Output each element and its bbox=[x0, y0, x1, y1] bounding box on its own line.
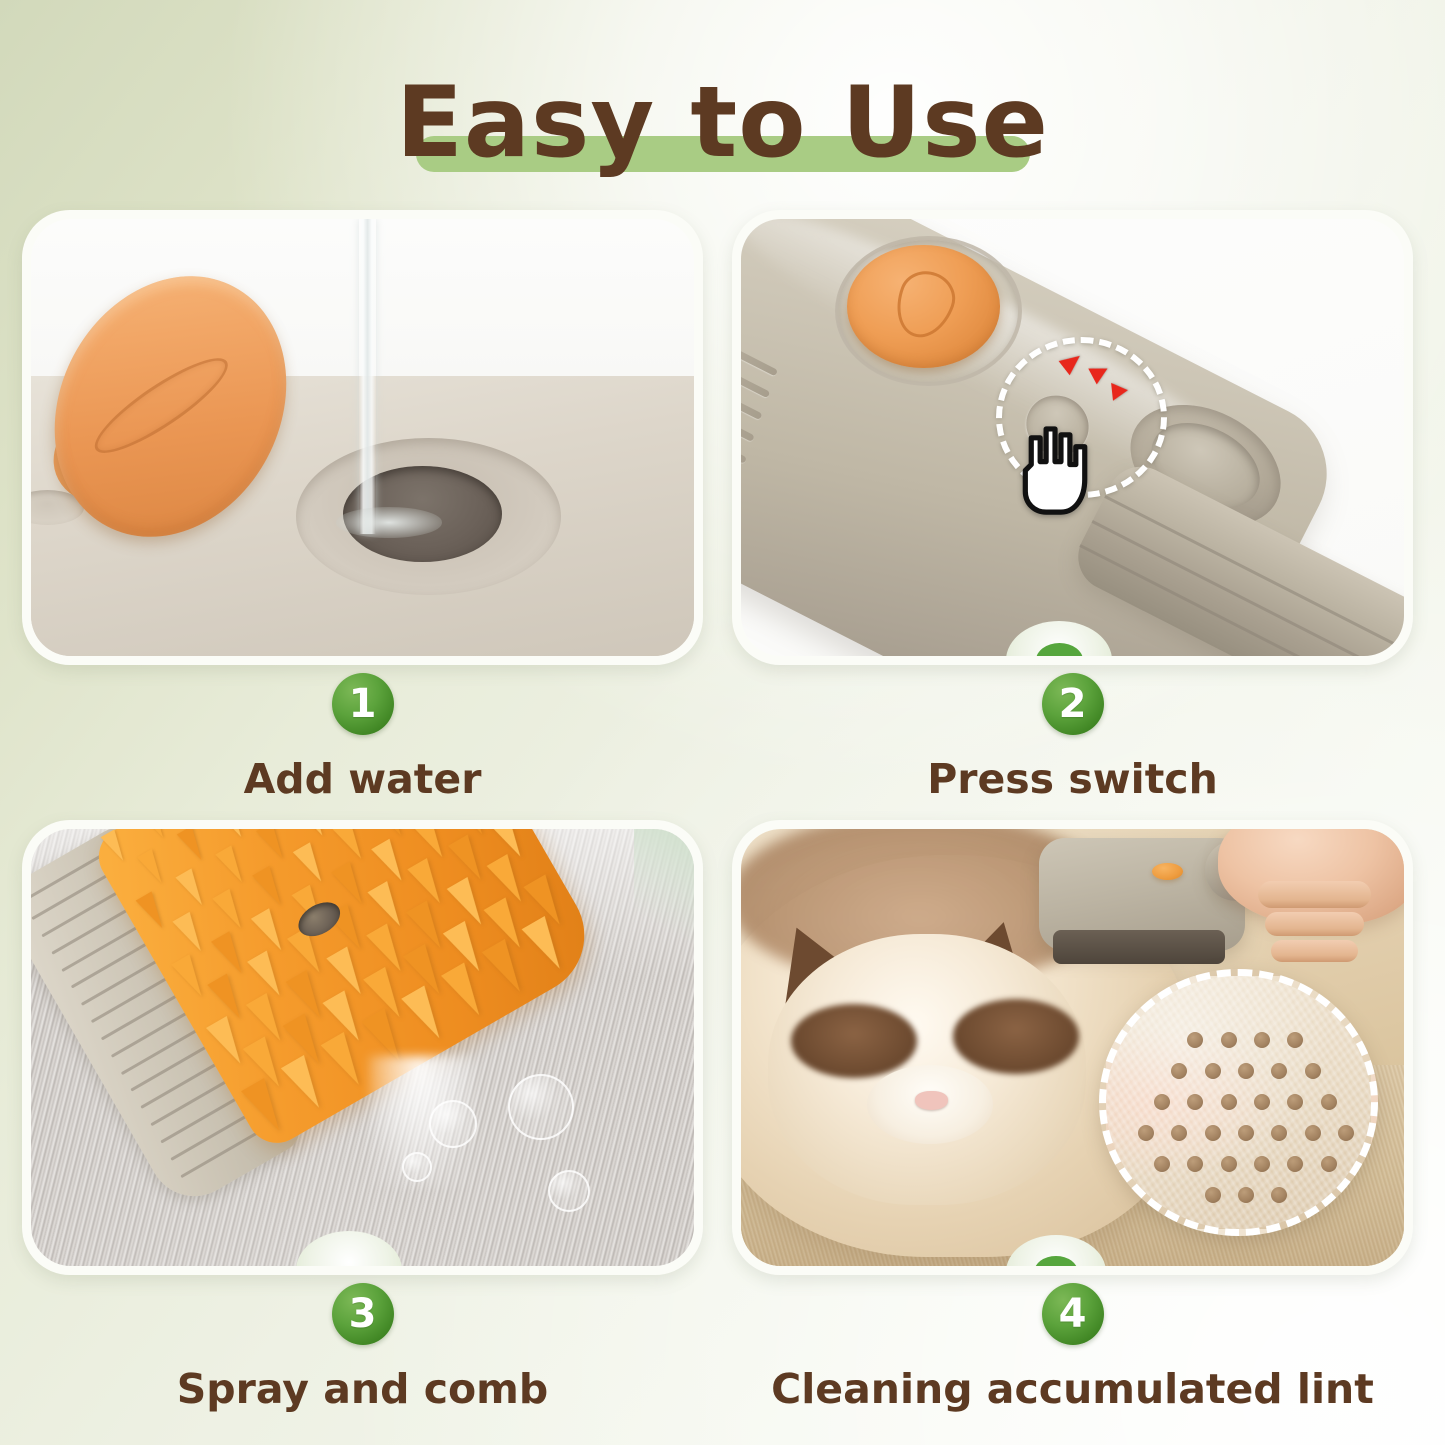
orange-bristle bbox=[402, 986, 452, 1045]
lint-hole bbox=[1187, 1156, 1203, 1172]
step-card-4: 4 Cleaning accumulated lint bbox=[732, 820, 1413, 1420]
step-2-number: 2 bbox=[1059, 684, 1087, 724]
step-4-photo bbox=[741, 829, 1404, 1266]
lint-hole bbox=[1271, 1125, 1287, 1141]
step-3-label: Spray and comb bbox=[22, 1365, 703, 1413]
brush-bristle-pad bbox=[1053, 930, 1225, 965]
page-title-block: Easy to Use bbox=[0, 58, 1445, 188]
orange-bristle bbox=[412, 829, 451, 862]
cat-nose bbox=[915, 1091, 948, 1109]
orange-bristle bbox=[247, 950, 289, 1001]
orange-bristle bbox=[366, 923, 411, 977]
orange-bristle bbox=[292, 842, 329, 886]
orange-bristle bbox=[448, 835, 490, 886]
orange-bristle bbox=[207, 974, 249, 1025]
hand-cursor-icon bbox=[1010, 420, 1106, 524]
orange-bristle bbox=[442, 962, 492, 1021]
lint-hole bbox=[1287, 1156, 1303, 1172]
lint-hole bbox=[1254, 1094, 1270, 1110]
lint-hole bbox=[1238, 1125, 1254, 1141]
finger-2 bbox=[1265, 912, 1364, 936]
orange-bristle bbox=[373, 829, 410, 840]
step-1-badge: 1 bbox=[332, 673, 394, 735]
lint-hole bbox=[1187, 1094, 1203, 1110]
orange-bristle bbox=[137, 849, 169, 887]
lint-hole bbox=[1338, 1125, 1354, 1141]
lint-hole bbox=[1271, 1187, 1287, 1203]
step-4-badge: 4 bbox=[1042, 1283, 1104, 1345]
water-splash bbox=[336, 507, 442, 538]
orange-bristle bbox=[211, 930, 250, 977]
step-2-badge: 2 bbox=[1042, 673, 1104, 735]
lint-hole bbox=[1171, 1125, 1187, 1141]
orange-bristle bbox=[135, 891, 169, 932]
lint-hole bbox=[1221, 1032, 1237, 1048]
steam-spray-icon bbox=[369, 1056, 475, 1187]
orange-bristle bbox=[447, 877, 492, 931]
steps-grid: 1 Add water bbox=[0, 196, 1445, 1445]
orange-bristle bbox=[326, 946, 371, 1000]
orange-bristle bbox=[408, 858, 450, 909]
step-1-photo-frame bbox=[22, 210, 703, 665]
lint-hole bbox=[1187, 1032, 1203, 1048]
lint-hole bbox=[1154, 1156, 1170, 1172]
lint-hole bbox=[1287, 1094, 1303, 1110]
step-1-label: Add water bbox=[22, 755, 703, 803]
finger-3 bbox=[1271, 940, 1357, 962]
lint-hole bbox=[1287, 1032, 1303, 1048]
orange-bristle bbox=[286, 969, 331, 1023]
status-indicator-light bbox=[296, 1231, 402, 1266]
orange-bristle bbox=[321, 1032, 371, 1091]
orange-bristle bbox=[212, 888, 249, 932]
orange-bristle bbox=[252, 865, 289, 909]
lint-hole bbox=[1238, 1063, 1254, 1079]
orange-bristle bbox=[296, 829, 330, 840]
orange-bristle bbox=[452, 829, 491, 839]
orange-bristle bbox=[406, 900, 451, 954]
orange-bristle bbox=[172, 911, 209, 955]
dashed-circle-inset bbox=[1099, 969, 1378, 1236]
step-2-label: Press switch bbox=[732, 755, 1413, 803]
lint-hole bbox=[1221, 1156, 1237, 1172]
red-arrow-icon-3 bbox=[1111, 381, 1129, 401]
step-2-photo bbox=[741, 219, 1404, 656]
orange-bristle bbox=[371, 838, 410, 885]
orange-bristle bbox=[217, 829, 249, 841]
orange-bristle bbox=[177, 829, 209, 864]
lint-hole bbox=[1271, 1063, 1287, 1079]
lint-hole bbox=[1171, 1063, 1187, 1079]
lint-hole bbox=[1254, 1156, 1270, 1172]
hand-holding-brush bbox=[1218, 829, 1404, 925]
orange-bristle bbox=[522, 916, 572, 975]
orange-bristle bbox=[333, 829, 370, 863]
step-card-2: 2 Press switch bbox=[732, 210, 1413, 810]
bubble-icon-3 bbox=[548, 1170, 590, 1212]
step-card-1: 1 Add water bbox=[22, 210, 703, 810]
step-4-photo-frame bbox=[732, 820, 1413, 1275]
orange-bristle bbox=[171, 954, 210, 1001]
lint-hole bbox=[1305, 1063, 1321, 1079]
finger-1 bbox=[1258, 881, 1371, 907]
infographic-canvas: Easy to Use 1 bbox=[0, 0, 1445, 1445]
step-4-label: Cleaning accumulated lint bbox=[732, 1365, 1413, 1413]
orange-bristle bbox=[175, 868, 209, 909]
lint-hole bbox=[1254, 1032, 1270, 1048]
step-3-photo-frame bbox=[22, 820, 703, 1275]
lint-hole bbox=[1205, 1125, 1221, 1141]
cat-eye-mask-left bbox=[791, 1004, 917, 1078]
lint-hole bbox=[1205, 1187, 1221, 1203]
lint-hole bbox=[1205, 1063, 1221, 1079]
orange-bristle bbox=[256, 829, 290, 863]
bubble-icon-2 bbox=[508, 1074, 574, 1140]
orange-bristle bbox=[206, 1016, 251, 1070]
orange-bristle bbox=[281, 1055, 331, 1114]
water-drop-button bbox=[1152, 863, 1183, 880]
lint-hole bbox=[1238, 1187, 1254, 1203]
lint-hole bbox=[1321, 1156, 1337, 1172]
orange-bristle bbox=[331, 861, 370, 908]
lint-hole bbox=[1154, 1094, 1170, 1110]
page-title: Easy to Use bbox=[396, 74, 1049, 172]
orange-bristle bbox=[368, 881, 410, 932]
step-3-number: 3 bbox=[349, 1294, 377, 1334]
orange-bristle bbox=[487, 854, 532, 908]
step-2-photo-frame bbox=[732, 210, 1413, 665]
orange-bristle bbox=[140, 829, 170, 841]
lint-hole bbox=[1138, 1125, 1154, 1141]
lint-hole bbox=[1321, 1094, 1337, 1110]
step-3-badge: 3 bbox=[332, 1283, 394, 1345]
orange-bristle bbox=[482, 939, 532, 998]
orange-bristle bbox=[251, 907, 290, 954]
lint-hole bbox=[1305, 1125, 1321, 1141]
background-edge bbox=[634, 829, 694, 943]
orange-bristle bbox=[246, 993, 291, 1047]
step-card-3: 3 Spray and comb bbox=[22, 820, 703, 1420]
cat-eye-mask-right bbox=[953, 999, 1079, 1073]
brush-head bbox=[31, 829, 614, 1213]
step-1-number: 1 bbox=[349, 684, 377, 724]
water-stream-icon bbox=[359, 219, 376, 534]
step-1-photo bbox=[31, 219, 694, 656]
plug-groove bbox=[84, 344, 238, 466]
step-4-number: 4 bbox=[1059, 1294, 1087, 1334]
step-3-photo bbox=[31, 829, 694, 1266]
lint-hole bbox=[1221, 1094, 1237, 1110]
orange-bristle bbox=[100, 829, 130, 864]
orange-bristle bbox=[216, 845, 250, 886]
